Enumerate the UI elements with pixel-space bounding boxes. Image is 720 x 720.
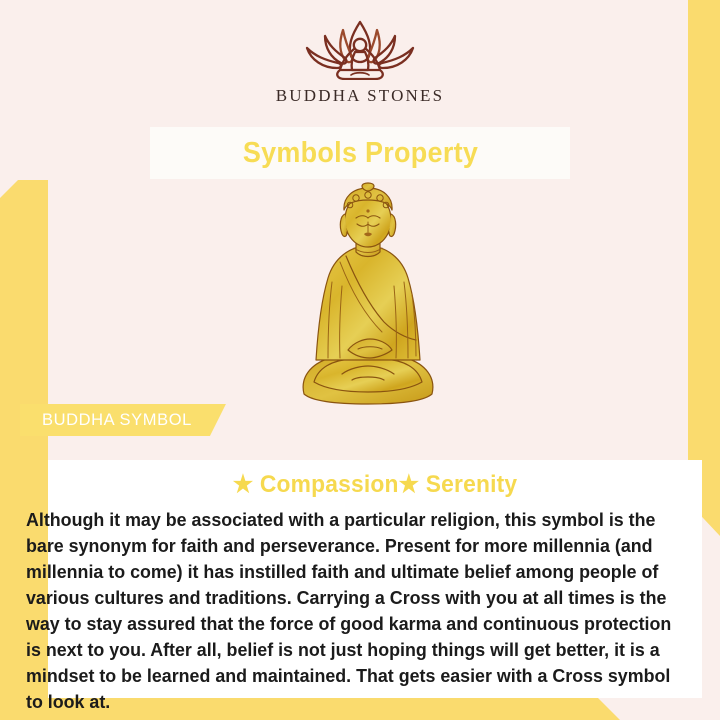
content-subheading: ★ Compassion★ Serenity [64,470,685,499]
category-ribbon: BUDDHA SYMBOL [20,404,226,436]
brand-name: BUDDHA STONES [276,86,445,106]
poster-root: BUDDHA STONES Symbols Property [0,0,720,720]
brand-header: BUDDHA STONES [0,0,720,125]
artwork-stage [48,182,688,410]
title-banner: Symbols Property [150,127,570,179]
page-title: Symbols Property [242,137,477,170]
lotus-meditation-icon [285,18,435,80]
content-paragraph: Although it may be associated with a par… [26,507,705,715]
seated-buddha-statue-icon [284,182,452,410]
category-ribbon-label: BUDDHA SYMBOL [42,411,192,430]
content-panel: ★ Compassion★ Serenity Although it may b… [48,460,702,698]
